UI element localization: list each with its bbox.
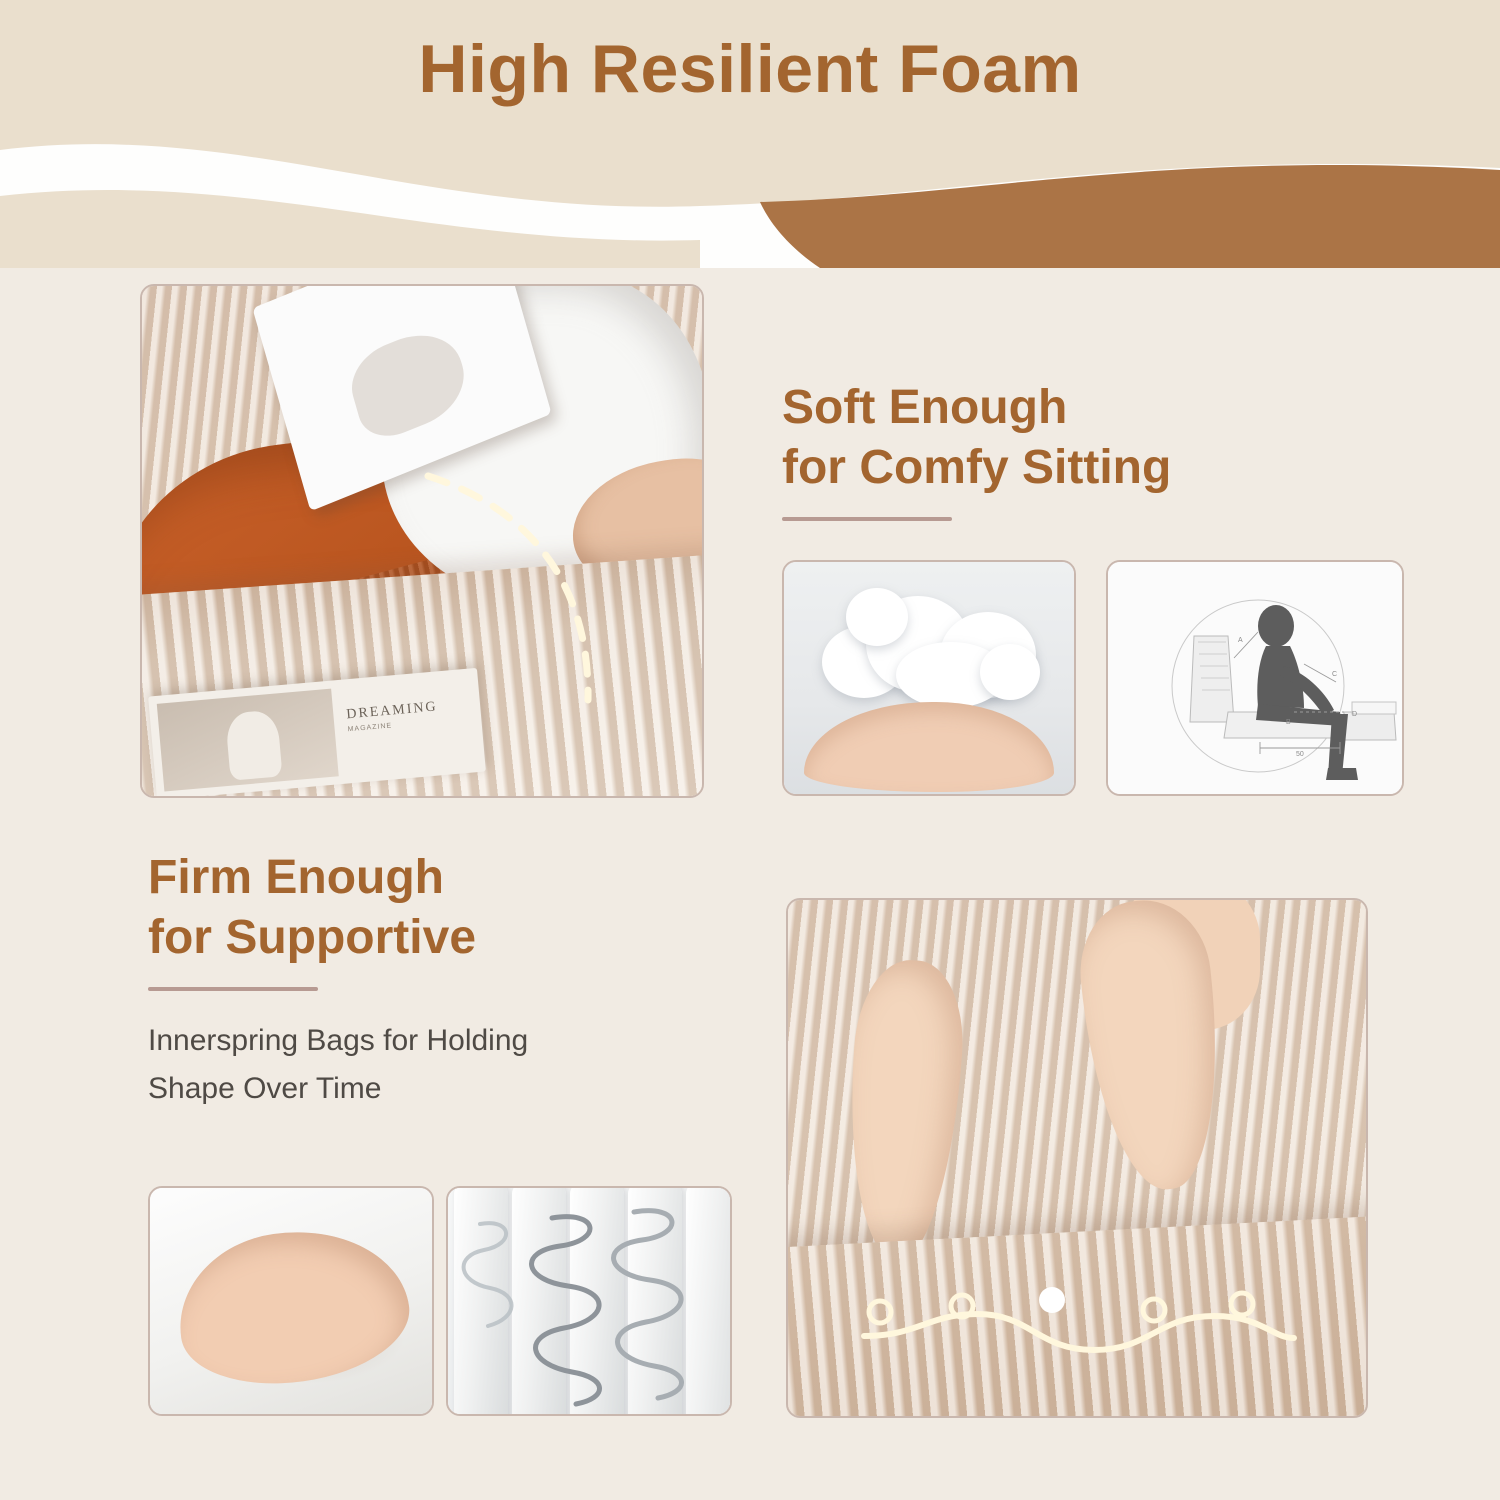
soft-enough-divider [782, 517, 952, 521]
firm-enough-headline: Firm Enough for Supportive [148, 848, 768, 969]
pocketed-coil-springs-photo [446, 1186, 732, 1416]
magazine-cover-photo [157, 689, 339, 792]
hand-pressing-foam-photo [148, 1186, 434, 1416]
diagram-label-b: B [1286, 719, 1291, 726]
firm-enough-subtext: Innerspring Bags for Holding Shape Over … [148, 1017, 768, 1113]
diagram-label-d: D [1352, 711, 1357, 718]
magazine-subtitle: MAGAZINE [347, 722, 392, 733]
soft-enough-block: Soft Enough for Comfy Sitting [782, 378, 1402, 521]
diagram-label-c: C [1332, 671, 1337, 678]
top-banner: High Resilient Foam [0, 0, 1500, 268]
seating-ergonomics-diagram: A C B D 50 [1106, 560, 1404, 796]
wave-dots-annotation [858, 1284, 1298, 1374]
diagram-label-a: A [1238, 637, 1243, 644]
firm-enough-block: Firm Enough for Supportive Innerspring B… [148, 848, 768, 1113]
ergonomics-line-drawing: A C B D 50 [1108, 562, 1402, 794]
person-sitting-reading-photo: DREAMING MAGAZINE [140, 284, 704, 798]
coil-spring-illustration [448, 1188, 730, 1414]
fiber-fill-in-hand-photo [782, 560, 1076, 796]
page-title: High Resilient Foam [0, 30, 1500, 108]
diagram-dimension-label: 50 [1296, 751, 1304, 758]
firm-enough-divider [148, 987, 318, 991]
bare-feet-on-cushion-photo [786, 898, 1368, 1418]
fiber-fill-cluster [822, 588, 1036, 700]
infographic-page: High Resilient Foam DREAMING MAGAZINE So… [0, 0, 1500, 1500]
magazine-title: DREAMING [346, 699, 438, 723]
soft-enough-headline: Soft Enough for Comfy Sitting [782, 378, 1402, 499]
